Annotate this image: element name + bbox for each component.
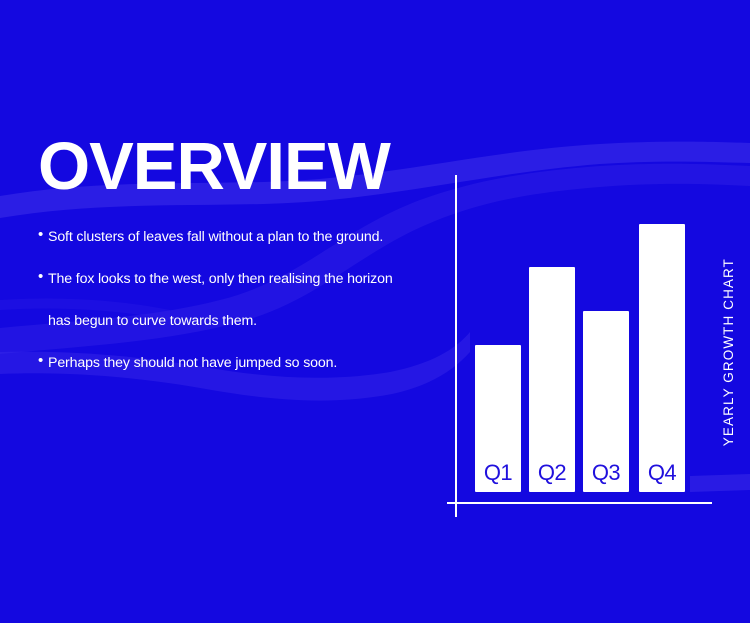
page-title: OVERVIEW — [38, 130, 390, 204]
chart-bar-label: Q1 — [475, 460, 521, 486]
chart-bar: Q2 — [529, 267, 575, 492]
chart-bar: Q4 — [639, 224, 685, 492]
bullet-marker-icon: • — [38, 350, 48, 372]
bullet-marker-icon: • — [38, 224, 48, 246]
chart-bar: Q1 — [475, 345, 521, 492]
list-item-text: The fox looks to the west, only then rea… — [48, 266, 393, 292]
bullet-list: • Soft clusters of leaves fall without a… — [38, 224, 438, 392]
chart-side-caption: YEARLY GROWTH CHART — [721, 258, 736, 446]
bullet-marker-icon: • — [38, 266, 48, 288]
slide-canvas: OVERVIEW • Soft clusters of leaves fall … — [0, 0, 750, 623]
chart-x-axis — [447, 502, 712, 504]
bar-chart: Q1 Q2 Q3 Q4 — [440, 170, 730, 520]
chart-bar: Q3 — [583, 311, 629, 492]
list-item-text: Soft clusters of leaves fall without a p… — [48, 224, 383, 250]
chart-bar-label: Q2 — [529, 460, 575, 486]
list-item-continuation: has begun to curve towards them. — [38, 308, 438, 334]
chart-bar-label: Q3 — [583, 460, 629, 486]
list-item: • Perhaps they should not have jumped so… — [38, 350, 438, 376]
list-item-text: Perhaps they should not have jumped so s… — [48, 350, 337, 376]
list-item: • The fox looks to the west, only then r… — [38, 266, 438, 292]
list-item-text: has begun to curve towards them. — [48, 308, 257, 334]
chart-y-axis — [455, 175, 457, 517]
list-item: • Soft clusters of leaves fall without a… — [38, 224, 438, 250]
chart-bar-label: Q4 — [639, 460, 685, 486]
